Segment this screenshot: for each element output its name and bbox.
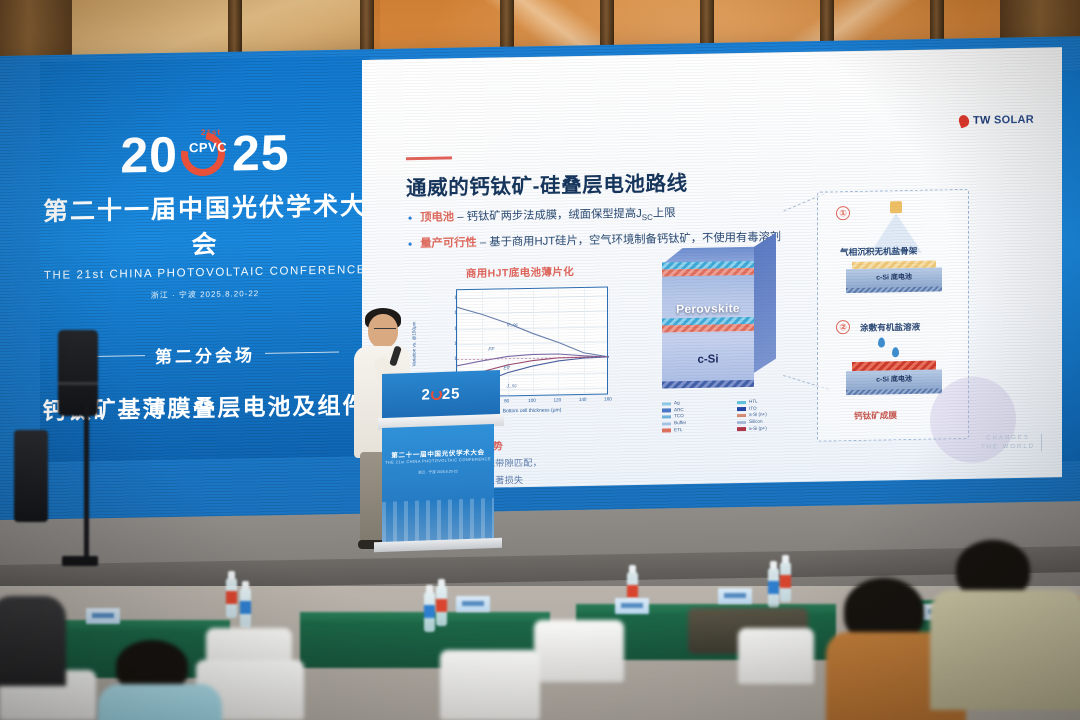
- name-card: [456, 596, 490, 612]
- chart-series-ff: [457, 353, 609, 366]
- legend-swatch: [737, 414, 746, 418]
- legend-swatch: [662, 428, 671, 432]
- water-bottle: [780, 562, 791, 602]
- logo-brand: TW: [973, 114, 991, 126]
- slide-title: 通威的钙钛矿-硅叠层电池路线: [406, 166, 688, 201]
- chart-x-tick: 100: [528, 398, 536, 403]
- water-bottle: [240, 588, 251, 628]
- name-card: [718, 588, 752, 604]
- chart-series-label-ff: FF: [488, 346, 494, 352]
- podium-ring-icon: [431, 389, 442, 400]
- audience-chair: [534, 620, 624, 682]
- stack-bottom-label: c-Si: [662, 353, 754, 367]
- water-bottle: [768, 568, 779, 608]
- bullet-1-text-b: 上限: [653, 207, 676, 219]
- legend-swatch: [737, 400, 746, 404]
- bullet-dot-icon: •: [408, 212, 412, 228]
- chart-gridline: [609, 287, 610, 393]
- bullet-1-text-a: 钙钛矿两步法成膜，绒面保型提高: [467, 208, 636, 223]
- legend-swatch: [737, 407, 746, 411]
- cpvc-ring-icon: 21st CPVC: [179, 128, 231, 179]
- stage-monitor-speaker: [14, 430, 48, 522]
- legend-swatch: [662, 415, 671, 419]
- legend-label: ETL: [674, 427, 682, 434]
- wafer-base: [846, 286, 942, 293]
- tw-solar-logo: TW SOLAR: [959, 114, 1034, 127]
- step-1-caption: 气相沉积无机盐骨架: [840, 245, 917, 258]
- banner-date: 浙江 · 宁波 2025.8.20-22: [40, 286, 370, 303]
- audience-clothing: [930, 590, 1080, 710]
- legend-swatch: [662, 402, 671, 406]
- stack-top-label: Perovskite: [662, 301, 754, 317]
- logo-year-left: 20: [120, 129, 178, 180]
- cube-front-face: Perovskite c-Si: [662, 261, 754, 389]
- droplet-icon: [892, 347, 899, 357]
- podium-logo-left: 2: [421, 386, 430, 403]
- audience-member: [92, 640, 222, 720]
- step-2-substrate-label: c-Si 底电池: [846, 373, 942, 385]
- banner-cn-title: 第二十一届中国光伏学术大会: [40, 186, 370, 264]
- chart-title: 商用HJT底电池薄片化: [420, 263, 620, 282]
- watermark-line-2: THE WORLD: [981, 443, 1035, 453]
- chart-x-tick: 140: [579, 397, 587, 402]
- droplet-icon: [878, 337, 885, 347]
- chart-x-tick: 80: [504, 398, 509, 403]
- podium-front-panel: 第二十一届中国光伏学术大会 THE 21st CHINA PHOTOVOLTAI…: [382, 424, 494, 546]
- logo-suffix: SOLAR: [994, 114, 1034, 127]
- legend-swatch: [662, 409, 671, 413]
- speaker-stand: [84, 400, 89, 560]
- conference-photo-scene: 20 21st CPVC 25 第二十一届中国光伏学术大会 THE 21st C…: [0, 0, 1080, 720]
- legend-swatch: [662, 422, 671, 426]
- evaporation-source-icon: [890, 201, 902, 213]
- flame-icon: [957, 114, 971, 129]
- legend-label: a-Si (p+): [749, 425, 767, 432]
- audience-chair: [440, 650, 540, 720]
- legend-swatch: [737, 420, 746, 424]
- slide-highlight: [362, 57, 542, 180]
- chart-x-tick: 160: [604, 396, 612, 401]
- stack-legend-item: ETL: [662, 426, 727, 434]
- step-1-substrate-label: c-Si 底电池: [846, 271, 942, 283]
- step-1-wafer: c-Si 底电池: [846, 260, 942, 296]
- glasses-icon: [374, 328, 396, 333]
- rule-right: [265, 352, 339, 354]
- audience-chair: [738, 628, 814, 684]
- water-bottle: [226, 578, 237, 618]
- name-card: [615, 598, 649, 614]
- session-label: 第二分会场: [155, 341, 255, 368]
- water-bottle: [424, 592, 435, 632]
- name-card: [86, 608, 120, 624]
- speaker-base: [62, 556, 98, 566]
- pa-speaker: [58, 330, 98, 416]
- banner-en-title: THE 21st CHINA PHOTOVOLTAIC CONFERENCE: [40, 264, 370, 282]
- step-2-caption: 涂敷有机盐溶液: [860, 321, 920, 334]
- layer-rear-asi: [662, 380, 754, 389]
- chart-series-label-voc: V_oc: [507, 322, 518, 328]
- chart-series-voc: [457, 304, 609, 359]
- chart-series-label-eff: Eff: [504, 366, 510, 372]
- podium-logo-right: 25: [442, 385, 461, 403]
- bullet-dot-icon: •: [408, 238, 412, 252]
- audience-member: [930, 540, 1080, 720]
- bullet-2-dash: –: [477, 237, 490, 249]
- wafer-base: [846, 388, 942, 395]
- bullet-1-subscript: SC: [642, 213, 653, 222]
- slide-watermark: CHANGES THE WORLD: [981, 434, 1042, 453]
- cpvc-superscript: 21st: [201, 129, 221, 137]
- cpvc-label: CPVC: [189, 140, 237, 154]
- layer-itl-red: [662, 324, 754, 333]
- audience-clothing: [98, 684, 222, 720]
- stack-legend: AgHTLARCITOTCOa-Si (n+)BufferSiliconETLa…: [662, 398, 802, 434]
- cell-cube: Perovskite c-Si: [662, 246, 774, 388]
- conference-logo: 20 21st CPVC 25: [40, 126, 370, 182]
- chart-x-tick: 120: [553, 397, 561, 402]
- tandem-cell-stack-diagram: Perovskite c-Si AgHTLARCITOTCOa-Si (n+)B…: [644, 234, 804, 437]
- step-2-footer: 钙钛矿成膜: [854, 409, 897, 422]
- chart-series-label-jsc: J_sc: [507, 383, 517, 389]
- cube-side-face: [754, 233, 776, 373]
- legend-swatch: [737, 427, 746, 431]
- audience-member: [0, 596, 70, 676]
- bullet-2-highlight: 量产可行性: [420, 237, 477, 250]
- step-2-badge: ②: [836, 320, 850, 334]
- podium-panel-date: 浙江 · 宁波 2025.8.20-22: [382, 468, 494, 477]
- step-2-wafer: c-Si 底电池: [846, 362, 942, 398]
- bullet-1-highlight: 顶电池: [420, 211, 454, 224]
- stack-legend-item: a-Si (p+): [737, 425, 802, 433]
- audience-clothing: [0, 596, 66, 686]
- chart-x-axis-label: Bottom cell thickness (μm): [503, 407, 562, 414]
- step-1-badge: ①: [836, 206, 850, 220]
- logo-year-right: 25: [232, 127, 290, 178]
- bullet-1-dash: –: [454, 211, 467, 223]
- layer-etl: [662, 268, 754, 277]
- water-bottle: [436, 586, 447, 626]
- podium-top: 225: [382, 370, 500, 420]
